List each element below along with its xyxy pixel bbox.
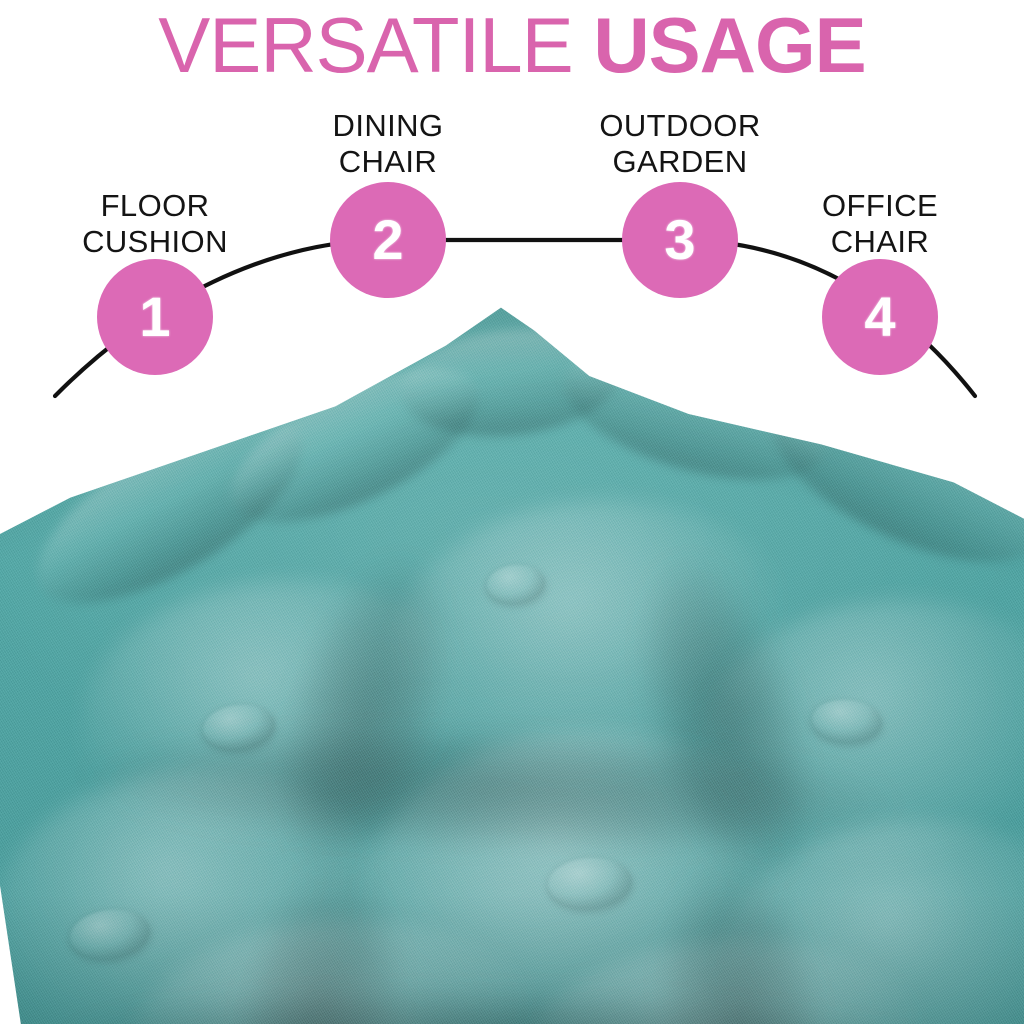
step-2-circle[interactable]: 2 (330, 182, 446, 298)
step-3-label: OUTDOOR GARDEN (550, 108, 810, 180)
step-4-number: 4 (864, 289, 895, 345)
page-title-part-2: USAGE (593, 1, 865, 89)
step-1-label: FLOOR CUSHION (25, 188, 285, 260)
step-3-number: 3 (664, 212, 695, 268)
step-1-circle[interactable]: 1 (97, 259, 213, 375)
page-title-part-1: VERSATILE (158, 1, 572, 89)
step-4-label: OFFICE CHAIR (750, 188, 1010, 260)
step-2-number: 2 (372, 212, 403, 268)
infographic-canvas: VERSATILE USAGE (0, 0, 1024, 1024)
step-1-number: 1 (139, 289, 170, 345)
product-image-floor-cushion (0, 300, 1024, 1024)
step-2-label: DINING CHAIR (258, 108, 518, 180)
step-3-circle[interactable]: 3 (622, 182, 738, 298)
cushion-edge-shading (0, 300, 1024, 1024)
step-4-circle[interactable]: 4 (822, 259, 938, 375)
page-title: VERSATILE USAGE (0, 2, 1024, 88)
